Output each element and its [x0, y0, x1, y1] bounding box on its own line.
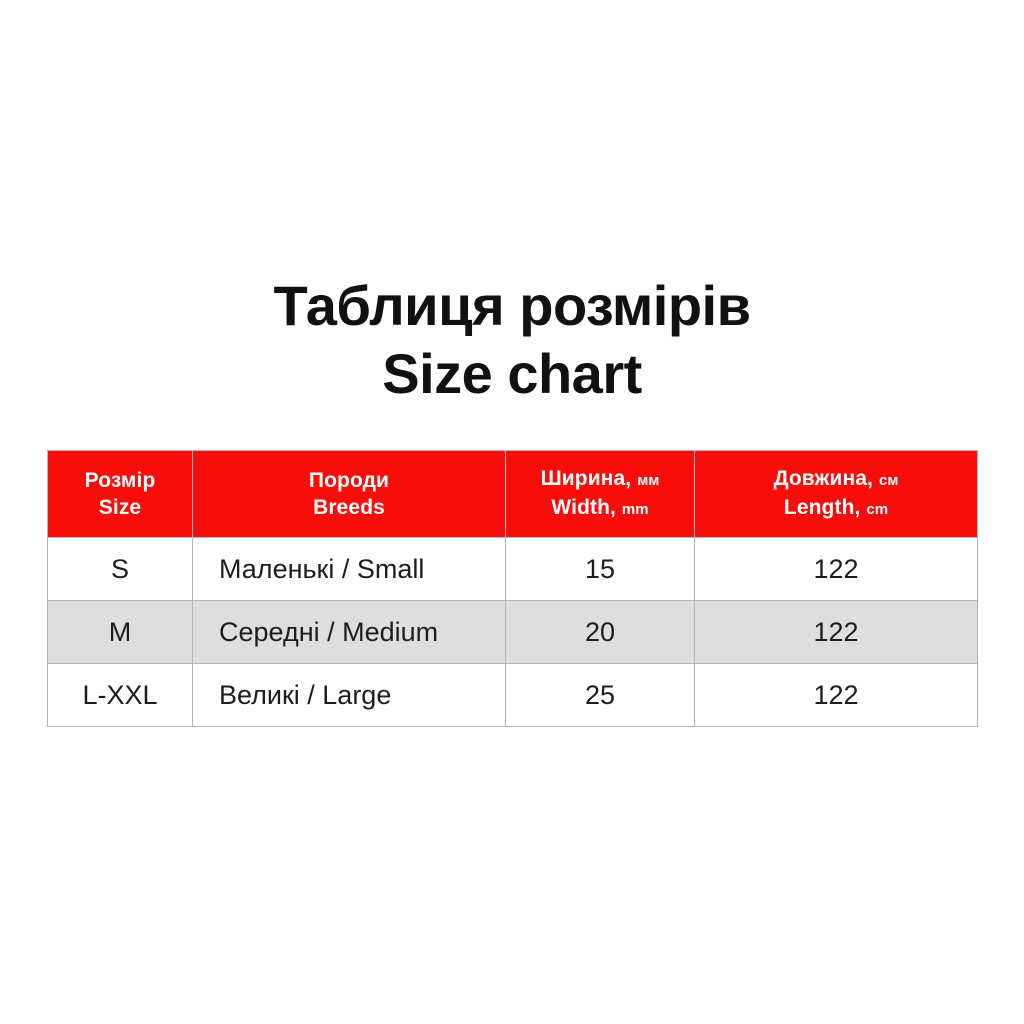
cell-length: 122: [695, 538, 978, 601]
column-header-length-uk-unit: см: [879, 472, 898, 489]
cell-breeds: Великі / Large: [193, 664, 506, 727]
cell-breeds: Маленькі / Small: [193, 538, 506, 601]
cell-size: M: [48, 601, 193, 664]
cell-size: S: [48, 538, 193, 601]
page-title-ukrainian: Таблиця розмірів: [0, 272, 1024, 340]
cell-width: 20: [506, 601, 695, 664]
column-header-width-en: Width,: [551, 496, 616, 519]
column-header-length-uk: Довжина,: [774, 467, 873, 490]
cell-breeds: Середні / Medium: [193, 601, 506, 664]
cell-length: 122: [695, 664, 978, 727]
cell-width: 25: [506, 664, 695, 727]
table-header-row: Розмір Size Породи: [48, 451, 978, 538]
size-chart-table-container: Розмір Size Породи: [47, 450, 977, 727]
table-row: S Маленькі / Small 15 122: [48, 538, 978, 601]
column-header-width-uk-unit: мм: [637, 472, 659, 489]
page-title-english: Size chart: [0, 340, 1024, 408]
table-body: S Маленькі / Small 15 122 M Середні / Me…: [48, 538, 978, 727]
cell-width: 15: [506, 538, 695, 601]
page-title: Таблиця розмірів Size chart: [0, 272, 1024, 408]
table-row: M Середні / Medium 20 122: [48, 601, 978, 664]
cell-length: 122: [695, 601, 978, 664]
column-header-breeds: Породи Breeds: [193, 451, 506, 538]
table-header: Розмір Size Породи: [48, 451, 978, 538]
table-row: L-XXL Великі / Large 25 122: [48, 664, 978, 727]
column-header-width: Ширина, мм Width, mm: [506, 451, 695, 538]
column-header-size-en: Size: [99, 496, 141, 519]
column-header-length-en: Length,: [784, 496, 861, 519]
column-header-length: Довжина, см Length, cm: [695, 451, 978, 538]
size-chart-table: Розмір Size Породи: [47, 450, 978, 727]
column-header-breeds-uk: Породи: [309, 469, 389, 492]
column-header-size: Розмір Size: [48, 451, 193, 538]
column-header-width-uk: Ширина,: [541, 467, 632, 490]
column-header-length-en-unit: cm: [866, 501, 888, 518]
cell-size: L-XXL: [48, 664, 193, 727]
column-header-breeds-en: Breeds: [313, 496, 385, 519]
column-header-size-uk: Розмір: [85, 469, 156, 492]
size-chart-page: Таблиця розмірів Size chart Розмір: [0, 0, 1024, 1024]
column-header-width-en-unit: mm: [622, 501, 649, 518]
